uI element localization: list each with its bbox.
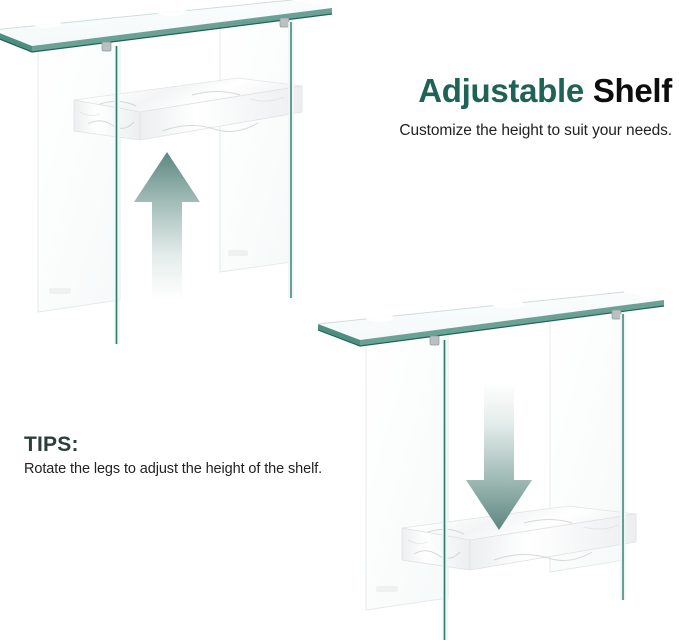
tips-heading: TIPS: [24, 433, 79, 457]
glass-side-panel-rear [366, 328, 448, 610]
glass-leg-front-left [114, 46, 120, 344]
glass-leg-front-right [620, 314, 626, 600]
glass-side-panel-rear [38, 34, 120, 312]
page-title-plain: Shelf [593, 72, 672, 109]
page-subtitle: Customize the height to suit your needs. [300, 122, 672, 140]
tips-description: Rotate the legs to adjust the height of … [24, 461, 322, 477]
arrow-up-icon [134, 152, 200, 300]
console-table-shelf-raised [0, 0, 332, 348]
glass-leg-front-left [442, 340, 448, 640]
page-title: Adjustable Shelf [372, 74, 672, 109]
console-table-shelf-lowered [318, 288, 679, 640]
glass-side-panel-rear-right [220, 18, 292, 272]
product-feature-image: Adjustable Shelf Customize the height to… [0, 0, 679, 640]
arrow-down-icon [466, 382, 532, 530]
page-title-accent: Adjustable [418, 72, 584, 109]
glass-leg-front-right [288, 22, 294, 298]
